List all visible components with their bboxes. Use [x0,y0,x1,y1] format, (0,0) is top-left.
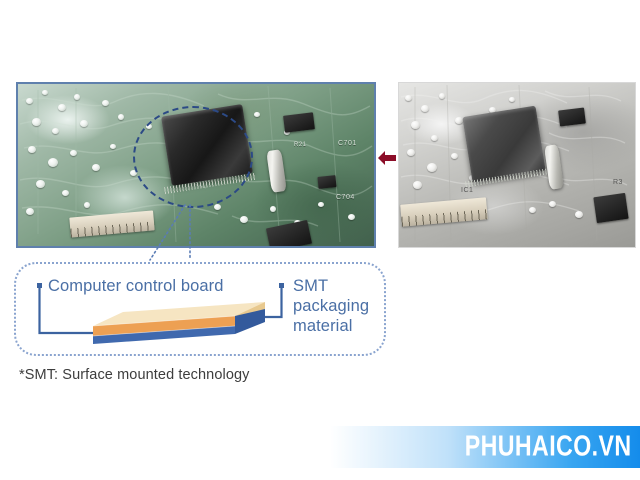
silkscreen-r21: R21 [294,142,307,148]
computer-control-board-gray-photo: IC1 R3 [398,82,636,248]
silkscreen-r3: R3 [613,179,623,186]
smt-footnote: *SMT: Surface mounted technology [19,367,250,383]
silkscreen-c704: C704 [336,194,355,201]
soic-package-gray-1 [558,107,586,126]
watermark-band: PHUHAICO.VN [330,426,640,468]
figure-canvas: C701 C704 R21 [0,0,640,480]
smt-chip-package [161,104,253,186]
label-computer-control-board: Computer control board [48,276,224,296]
watermark-text: PHUHAICO.VN [465,431,632,464]
silkscreen-c701: C701 [338,140,357,147]
label-smt-packaging-material: SMT packaging material [293,276,369,336]
soic-package-1 [283,112,315,133]
soic-package-gray-2 [593,193,628,223]
soic-package-3 [317,175,336,189]
left-arrow-icon [378,150,396,166]
layered-board-diagram [85,300,265,345]
computer-control-board-color-photo: C701 C704 R21 [16,82,376,248]
silkscreen-ic1: IC1 [461,187,473,194]
board-label-marker [37,283,42,288]
smt-label-marker [279,283,284,288]
